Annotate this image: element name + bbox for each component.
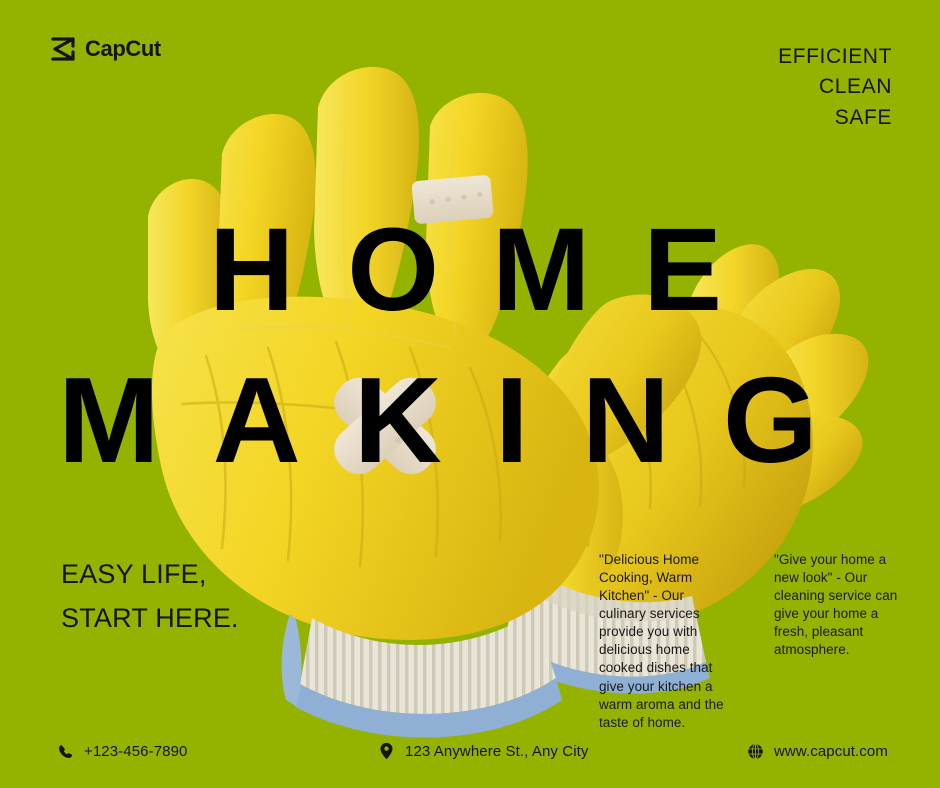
paragraph-cooking: "Delicious Home Cooking, Warm Kitchen" -… [599,551,731,732]
paragraph-cleaning: "Give your home a new look" - Our cleani… [774,551,898,659]
slogan-line-1: EFFICIENT [778,42,892,72]
footer-bar: +123-456-7890 123 Anywhere St., Any City [0,714,940,788]
slogan-line-3: SAFE [778,103,892,133]
slogan-block: EFFICIENT CLEAN SAFE [778,42,892,133]
footer-website-text: www.capcut.com [774,743,888,760]
slogan-line-2: CLEAN [778,72,892,102]
footer-address-text: 123 Anywhere St., Any City [405,743,589,760]
tagline-line-2: START HERE. [61,597,239,641]
headline-line-2: MAKING [58,364,871,476]
capcut-brand[interactable]: CapCut [50,37,161,61]
phone-icon [56,742,74,760]
footer-website[interactable]: www.capcut.com [746,742,888,760]
footer-phone[interactable]: +123-456-7890 [56,742,187,760]
location-pin-icon [377,742,395,760]
footer-phone-text: +123-456-7890 [84,743,187,760]
tagline-block: EASY LIFE, START HERE. [61,553,239,640]
headline-line-1: HOME [209,216,775,325]
tagline-line-1: EASY LIFE, [61,553,239,597]
footer-address[interactable]: 123 Anywhere St., Any City [377,742,589,760]
globe-icon [746,742,764,760]
capcut-logo-icon [50,37,76,61]
poster-canvas: CapCut EFFICIENT CLEAN SAFE HOME MAKING … [0,0,940,788]
brand-name-text: CapCut [85,38,161,60]
